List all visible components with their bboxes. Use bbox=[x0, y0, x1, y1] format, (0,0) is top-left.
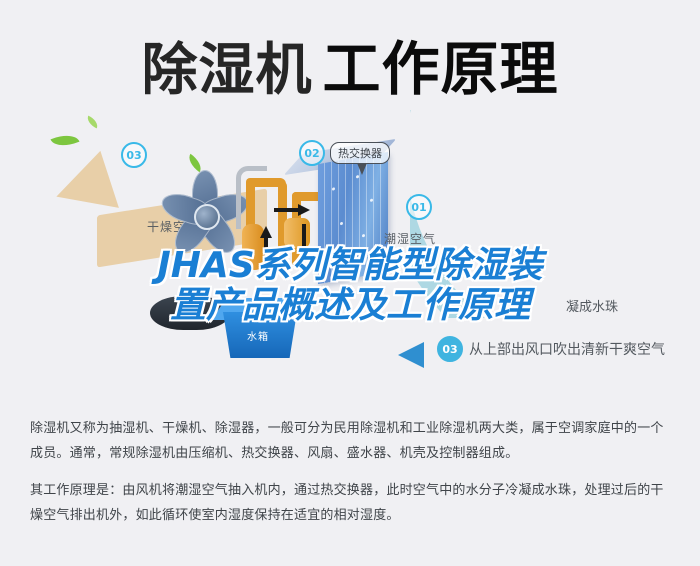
article-body: 除湿机又称为抽湿机、干燥机、除湿器，一般可分为民用除湿机和工业除湿机两大类，属于… bbox=[30, 416, 675, 540]
caption-step-03-row: 03 从上部出风口吹出清新干爽空气 bbox=[437, 336, 665, 362]
heat-exchanger-illustration bbox=[318, 152, 388, 284]
article-paragraph-2: 其工作原理是：由风机将潮湿空气抽入机内，通过热交换器，此时空气中的水分子冷凝成水… bbox=[30, 478, 675, 528]
page-title-part2: 工作原理 bbox=[322, 35, 558, 103]
humid-air-arrow-tip bbox=[398, 342, 424, 368]
badge-step-03: 03 bbox=[121, 142, 147, 168]
humid-air-arrow bbox=[410, 110, 700, 318]
caption-condense: 凝成水珠 bbox=[566, 296, 618, 315]
badge-step-01: 01 bbox=[406, 194, 432, 220]
badge-step-02: 02 bbox=[299, 140, 325, 166]
heat-exchanger-callout: 热交换器 bbox=[330, 142, 390, 164]
caption-step-03: 从上部出风口吹出清新干爽空气 bbox=[469, 339, 665, 359]
article-paragraph-1: 除湿机又称为抽湿机、干燥机、除湿器，一般可分为民用除湿机和工业除湿机两大类，属于… bbox=[30, 416, 675, 466]
water-tank-label: 水箱 bbox=[247, 328, 269, 343]
page-root: 除湿机工作原理 干燥空气 bbox=[0, 0, 700, 566]
leaf-icon bbox=[51, 130, 80, 152]
page-title: 除湿机工作原理 bbox=[0, 22, 700, 106]
page-title-part1: 除湿机 bbox=[141, 38, 312, 103]
dehumidifier-diagram: 干燥空气 bbox=[0, 110, 700, 395]
badge-step-03-bottom: 03 bbox=[437, 336, 463, 362]
humid-air-label: 潮湿空气 bbox=[384, 230, 436, 247]
leaf-icon bbox=[85, 116, 100, 129]
water-tank-illustration: 水箱 bbox=[205, 298, 313, 366]
